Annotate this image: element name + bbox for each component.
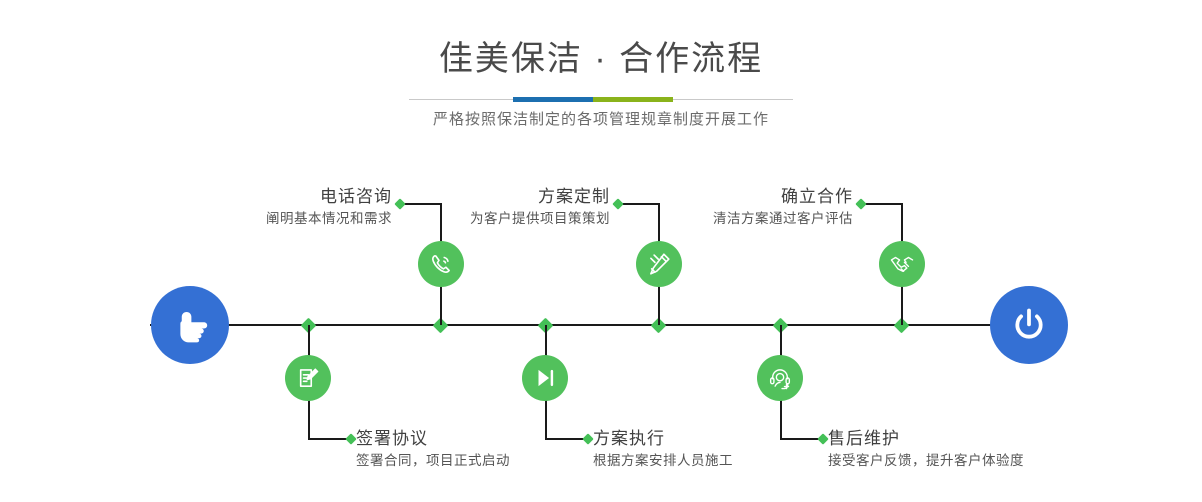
connector-horizontal-step-6 [780, 438, 822, 440]
step-icon-1 [418, 241, 464, 287]
step-icon-4 [522, 355, 568, 401]
label-marker-step-2 [345, 433, 356, 444]
step-label-5: 确立合作 清洁方案通过客户评估 [565, 186, 853, 228]
power-icon [1007, 303, 1051, 347]
page-title: 佳美保洁 · 合作流程 [0, 0, 1202, 76]
step-label-6: 售后维护 接受客户反馈，提升客户体验度 [828, 428, 1158, 470]
headset-support-icon [767, 365, 793, 391]
play-execute-icon [532, 365, 558, 391]
pointing-hand-icon [168, 303, 212, 347]
handshake-icon [889, 251, 915, 277]
step-desc-5: 清洁方案通过客户评估 [565, 210, 853, 228]
label-marker-step-5 [855, 198, 866, 209]
timeline-axis [150, 324, 1052, 326]
pencil-design-icon [646, 251, 672, 277]
step-icon-3 [636, 241, 682, 287]
step-title-6: 售后维护 [828, 428, 1158, 449]
cooperation-flow-infographic: 佳美保洁 · 合作流程 严格按照保洁制定的各项管理规章制度开展工作 [0, 0, 1202, 502]
step-desc-6: 接受客户反馈，提升客户体验度 [828, 452, 1158, 470]
step-icon-2 [285, 355, 331, 401]
step-icon-5 [879, 241, 925, 287]
header: 佳美保洁 · 合作流程 [0, 0, 1202, 76]
step-icon-6 [757, 355, 803, 401]
divider-green-segment [593, 97, 673, 102]
document-sign-icon [295, 365, 321, 391]
phone-call-icon [428, 251, 454, 277]
page-subtitle: 严格按照保洁制定的各项管理规章制度开展工作 [0, 108, 1202, 129]
title-divider [409, 97, 793, 102]
connector-horizontal-step-4 [545, 438, 587, 440]
flow-end-endpoint [990, 286, 1068, 364]
step-title-5: 确立合作 [565, 186, 853, 207]
connector-horizontal-step-2 [308, 438, 350, 440]
connector-horizontal-step-5 [861, 203, 903, 205]
divider-blue-segment [513, 97, 593, 102]
flow-start-endpoint [151, 286, 229, 364]
